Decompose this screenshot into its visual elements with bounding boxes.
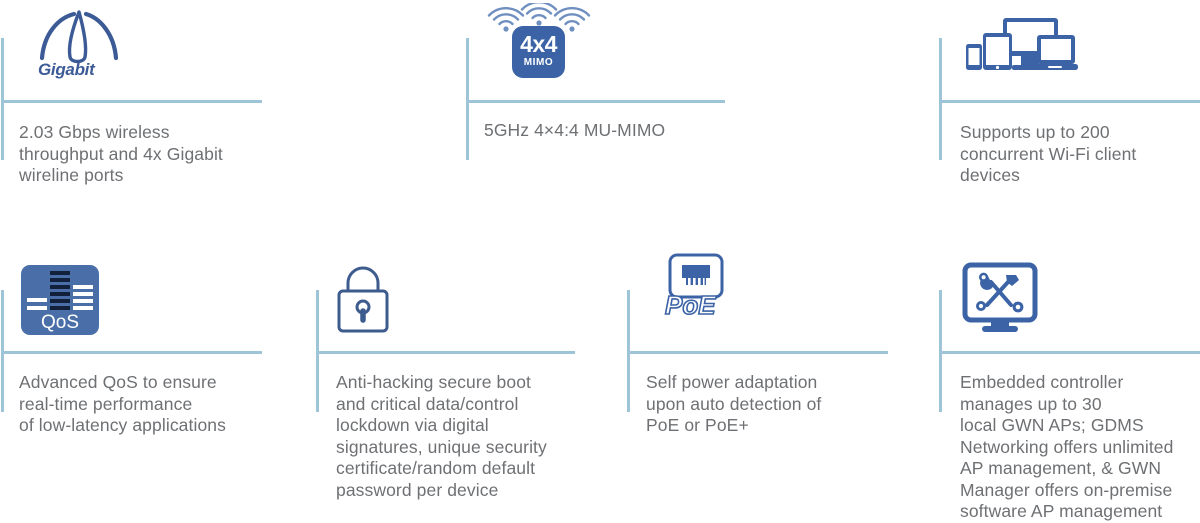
feature-description: Embedded controller manages up to 30 loc…: [960, 372, 1200, 523]
poe-wordmark: PoE: [665, 290, 716, 321]
padlock-icon: [334, 265, 392, 335]
divider-horizontal: [939, 351, 1200, 354]
qos-equalizer-icon: QoS: [21, 265, 99, 335]
feature-description: Advanced QoS to ensure real-time perform…: [19, 372, 274, 437]
divider-vertical: [466, 38, 469, 160]
feature-description: 5GHz 4×4:4 MU-MIMO: [484, 120, 734, 142]
divider-horizontal: [1, 351, 262, 354]
mimo-sublabel: MIMO: [512, 57, 565, 68]
qos-label: QoS: [21, 312, 99, 334]
mimo-badge: 4x4 MIMO: [512, 26, 565, 78]
divider-vertical: [1, 38, 4, 160]
divider-horizontal: [1, 100, 262, 103]
feature-description: Anti-hacking secure boot and critical da…: [336, 372, 586, 501]
divider-horizontal: [627, 351, 888, 354]
divider-vertical: [939, 38, 942, 160]
mimo-value: 4x4: [512, 26, 565, 57]
feature-description: Supports up to 200 concurrent Wi-Fi clie…: [960, 122, 1200, 187]
gigabit-wordmark: Gigabit: [38, 60, 94, 80]
feature-grid: Gigabit 2.03 Gbps wireless throughput an…: [0, 0, 1200, 516]
multi-device-icon: [962, 18, 1078, 80]
monitor-tools-icon: [962, 262, 1038, 336]
divider-horizontal: [466, 100, 725, 103]
feature-description: Self power adaptation upon auto detectio…: [646, 372, 896, 437]
divider-horizontal: [316, 351, 575, 354]
feature-description: 2.03 Gbps wireless throughput and 4x Gig…: [19, 122, 269, 187]
divider-horizontal: [939, 100, 1200, 103]
